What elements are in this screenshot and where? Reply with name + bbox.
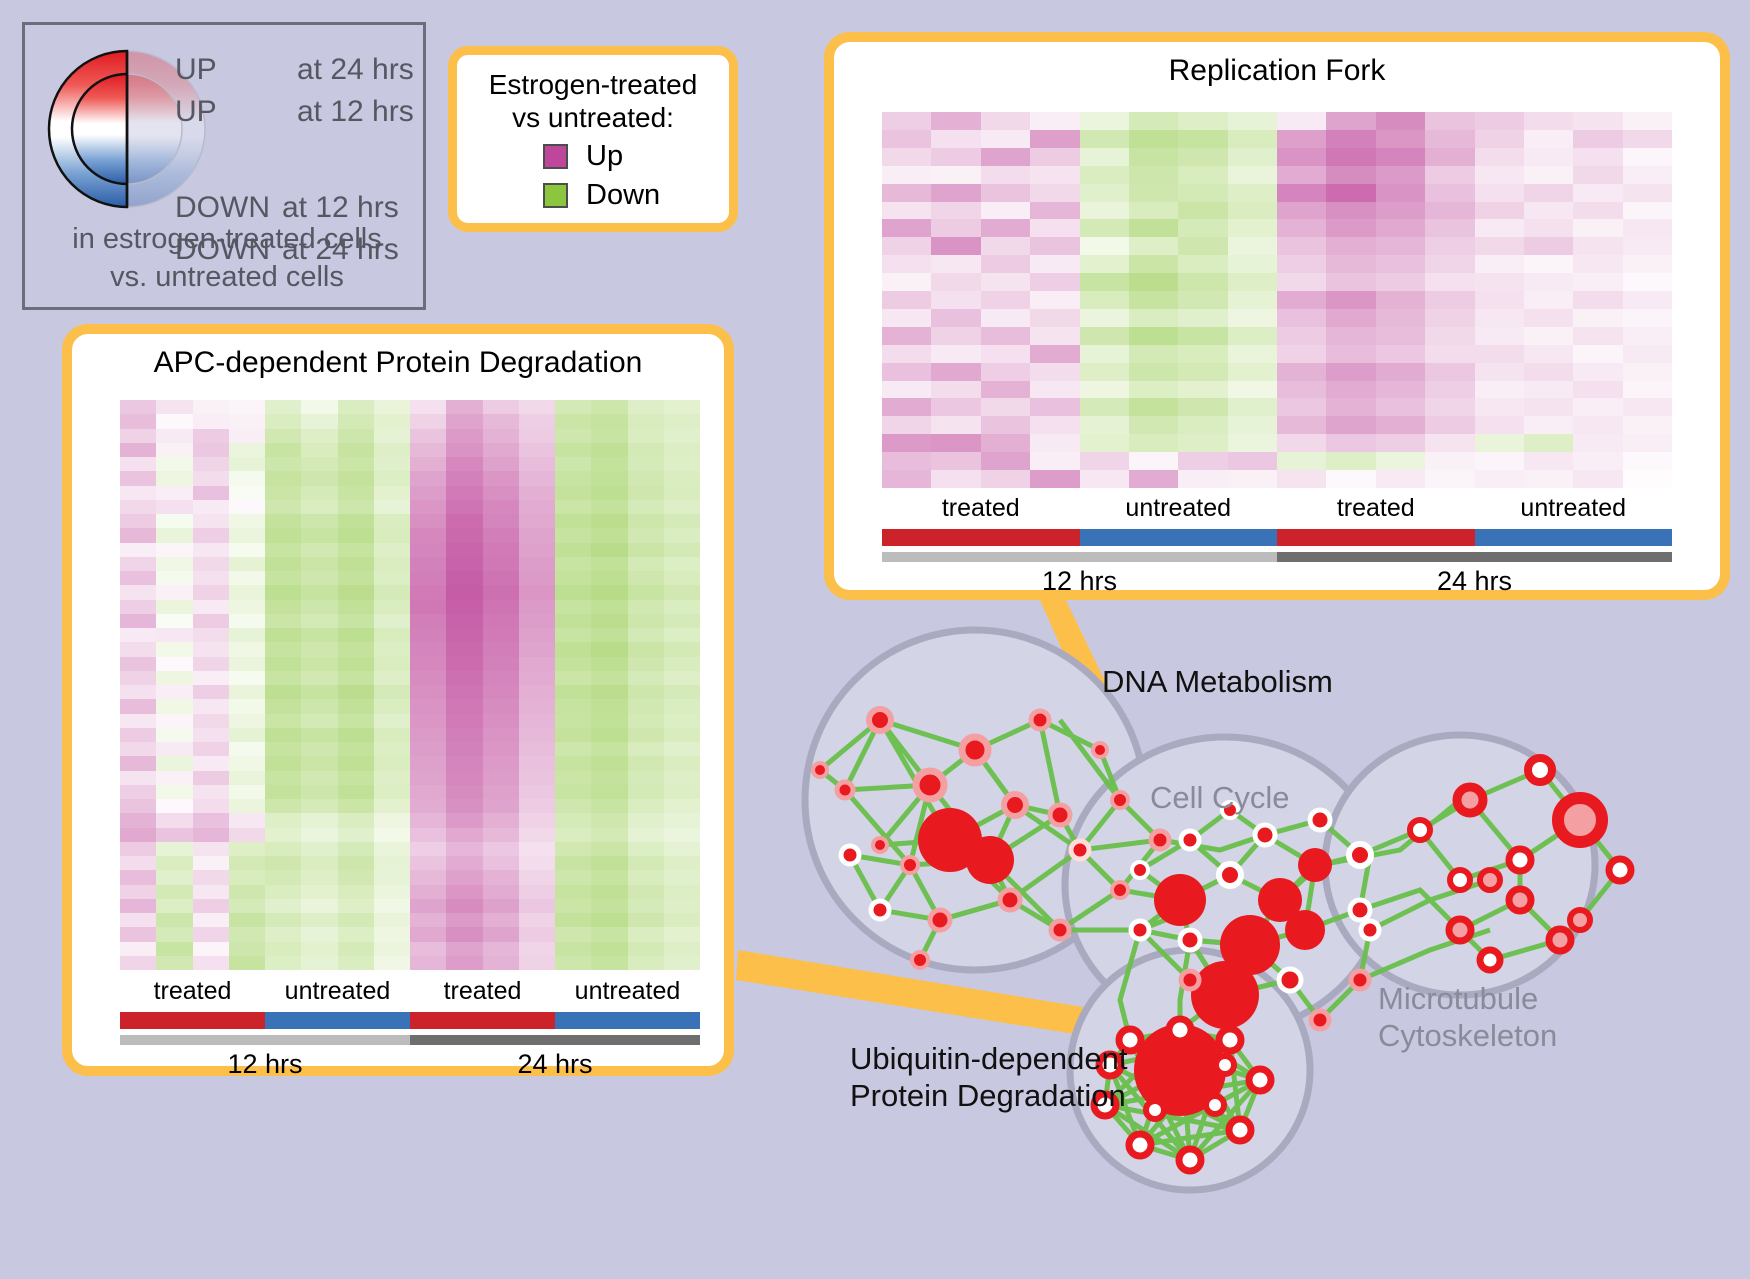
heatmap-cell <box>120 728 156 742</box>
heatmap-cell <box>591 528 627 542</box>
heatmap-cell <box>193 571 229 585</box>
heatmap-cell <box>1623 184 1672 202</box>
heatmap-cell <box>931 416 980 434</box>
heatmap-cell <box>1475 219 1524 237</box>
time-label-12hrs: 12 hrs <box>882 566 1277 597</box>
heatmap-cell <box>156 756 192 770</box>
heatmap-cell <box>931 434 980 452</box>
heatmap-cell <box>410 614 446 628</box>
heatmap-cell <box>664 913 700 927</box>
heatmap-cell <box>981 381 1030 399</box>
heatmap-cell <box>229 885 265 899</box>
heatmap-cell <box>664 728 700 742</box>
heatmap-cell <box>1425 184 1474 202</box>
heatmap-cell <box>120 642 156 656</box>
heatmap-cell <box>483 600 519 614</box>
heatmap-cell <box>483 885 519 899</box>
heatmap-cell <box>301 899 337 913</box>
group-labels-replication-fork: treated untreated treated untreated <box>882 494 1672 523</box>
heatmap-cell <box>981 273 1030 291</box>
heatmap-cell <box>265 600 301 614</box>
heatmap-cell <box>1425 237 1474 255</box>
heatmap-cell <box>664 571 700 585</box>
heatmap-cell <box>338 842 374 856</box>
heatmap-cell <box>555 600 591 614</box>
heatmap-cell <box>519 842 555 856</box>
heatmap-cell <box>265 799 301 813</box>
heatmap-cell <box>591 600 627 614</box>
heatmap-cell <box>1326 273 1375 291</box>
heatmap-cell <box>265 400 301 414</box>
heatmap-cell <box>1623 470 1672 488</box>
group-bar-untreated-24-apc <box>555 1012 700 1029</box>
heatmap-cell <box>1129 398 1178 416</box>
heatmap-cell <box>1129 148 1178 166</box>
heatmap-cell <box>628 457 664 471</box>
heatmap-cell <box>156 600 192 614</box>
heatmap-cell <box>981 363 1030 381</box>
heatmap-cell <box>555 571 591 585</box>
heatmap-cell <box>591 429 627 443</box>
heatmap-cell <box>301 685 337 699</box>
time-bars-apc <box>120 1035 700 1045</box>
heatmap-cell <box>981 184 1030 202</box>
heatmap-cell <box>1178 219 1227 237</box>
heatmap-cell <box>1376 237 1425 255</box>
heatmap-cell <box>1475 434 1524 452</box>
heatmap-cell <box>483 628 519 642</box>
key-footer: in estrogen-treated cells vs. untreated … <box>25 221 429 296</box>
heatmap-cell <box>1277 327 1326 345</box>
heatmap-cell <box>1080 398 1129 416</box>
heatmap-cell <box>374 414 410 428</box>
heatmap-cell <box>374 614 410 628</box>
heatmap-cell <box>446 500 482 514</box>
heatmap-cell <box>1376 470 1425 488</box>
heatmap-cell <box>156 400 192 414</box>
group-label-untreated-12: untreated <box>1080 494 1278 523</box>
heatmap-cell <box>1623 416 1672 434</box>
key-word-down-12: DOWN <box>175 191 270 225</box>
heatmap-cell <box>981 452 1030 470</box>
heatmap-cell <box>519 471 555 485</box>
heatmap-cell <box>1030 309 1079 327</box>
heatmap-cell <box>931 166 980 184</box>
heatmap-cell <box>374 500 410 514</box>
heatmap-cell <box>1326 470 1375 488</box>
heatmap-cell <box>446 885 482 899</box>
heatmap-cell <box>1129 219 1178 237</box>
heatmap-cell <box>120 813 156 827</box>
heatmap-cell <box>591 500 627 514</box>
heatmap-cell <box>591 856 627 870</box>
heatmap-cell <box>338 742 374 756</box>
heatmap-cell <box>1080 273 1129 291</box>
heatmap-cell <box>1178 309 1227 327</box>
heatmap-cell <box>591 870 627 884</box>
heatmap-cell <box>931 398 980 416</box>
heatmap-cell <box>193 799 229 813</box>
heatmap-cell <box>664 628 700 642</box>
heatmap-cell <box>628 614 664 628</box>
heatmap-cell <box>1326 219 1375 237</box>
group-label-treated-24-apc: treated <box>410 977 555 1006</box>
panel-title-apc-degradation: APC-dependent Protein Degradation <box>72 346 724 380</box>
heatmap-cell <box>981 345 1030 363</box>
heatmap-cell <box>410 671 446 685</box>
heatmap-cell <box>1573 166 1622 184</box>
heatmap-cell <box>981 202 1030 220</box>
heatmap-cell <box>1080 309 1129 327</box>
heatmap-cell <box>410 400 446 414</box>
estrogen-legend-title-line2: vs untreated: <box>457 101 729 134</box>
heatmap-cell <box>591 400 627 414</box>
group-bar-treated-12-apc <box>120 1012 265 1029</box>
heatmap-cell <box>519 500 555 514</box>
heatmap-cell <box>664 699 700 713</box>
heatmap-cell <box>519 400 555 414</box>
heatmap-cell <box>120 486 156 500</box>
heatmap-cell <box>229 486 265 500</box>
heatmap-cell <box>519 414 555 428</box>
legend-item-down: Down <box>543 179 729 212</box>
heatmap-cell <box>410 956 446 970</box>
time-label-24hrs: 24 hrs <box>1277 566 1672 597</box>
heatmap-cell <box>882 184 931 202</box>
heatmap-cell <box>265 899 301 913</box>
heatmap-cell <box>628 685 664 699</box>
heatmap-cell <box>519 571 555 585</box>
heatmap-cell <box>1129 273 1178 291</box>
key-word-up-12: UP <box>175 95 217 129</box>
heatmap-cell <box>301 642 337 656</box>
heatmap-cell <box>193 956 229 970</box>
heatmap-cell <box>519 942 555 956</box>
heatmap-cell <box>483 657 519 671</box>
heatmap-cell <box>1524 184 1573 202</box>
heatmap-cell <box>483 856 519 870</box>
heatmap-cell <box>981 470 1030 488</box>
heatmap-cell <box>931 452 980 470</box>
heatmap-cell <box>193 657 229 671</box>
heatmap-cell <box>1228 148 1277 166</box>
heatmap-cell <box>374 714 410 728</box>
heatmap-cell <box>591 828 627 842</box>
heatmap-cell <box>301 543 337 557</box>
heatmap-cell <box>229 685 265 699</box>
heatmap-cell <box>446 400 482 414</box>
heatmap-cell <box>338 813 374 827</box>
heatmap-cell <box>1623 309 1672 327</box>
heatmap-cell <box>193 856 229 870</box>
heatmap-cell <box>591 486 627 500</box>
heatmap-cell <box>374 443 410 457</box>
heatmap-cell <box>193 557 229 571</box>
heatmap-cell <box>519 528 555 542</box>
heatmap-cell <box>374 429 410 443</box>
heatmap-cell <box>1228 327 1277 345</box>
heatmap-cell <box>519 813 555 827</box>
heatmap-cell <box>229 514 265 528</box>
network-label-cell-cycle: Cell Cycle <box>1150 780 1290 816</box>
heatmap-cell <box>265 813 301 827</box>
heatmap-cell <box>519 443 555 457</box>
heatmap-cell <box>591 514 627 528</box>
heatmap-cell <box>1178 470 1227 488</box>
heatmap-cell <box>555 885 591 899</box>
heatmap-cell <box>1129 381 1178 399</box>
heatmap-cell <box>483 642 519 656</box>
heatmap-cell <box>446 514 482 528</box>
heatmap-cell <box>483 528 519 542</box>
heatmap-cell <box>446 571 482 585</box>
heatmap-cell <box>1030 470 1079 488</box>
heatmap-cell <box>1475 416 1524 434</box>
key-row-up-24: UP at 24 hrs <box>175 53 425 95</box>
heatmap-cell <box>1623 452 1672 470</box>
heatmap-cell <box>628 714 664 728</box>
heatmap-cell <box>1524 202 1573 220</box>
heatmap-cell <box>156 685 192 699</box>
heatmap-cell <box>628 756 664 770</box>
key-time-down-12: at 12 hrs <box>282 191 399 225</box>
heatmap-cell <box>555 614 591 628</box>
heatmap-cell <box>265 885 301 899</box>
heatmap-cell <box>193 685 229 699</box>
heatmap-cell <box>156 457 192 471</box>
heatmap-cell <box>265 728 301 742</box>
heatmap-cell <box>1573 237 1622 255</box>
heatmap-cell <box>882 381 931 399</box>
heatmap-cell <box>120 927 156 941</box>
heatmap-cell <box>120 414 156 428</box>
heatmap-cell <box>338 870 374 884</box>
key-time-up-24: at 24 hrs <box>297 53 414 87</box>
heatmap-cell <box>591 614 627 628</box>
heatmap-cell <box>446 942 482 956</box>
heatmap-cell <box>555 870 591 884</box>
heatmap-cell <box>301 956 337 970</box>
heatmap-cell <box>374 642 410 656</box>
heatmap-cell <box>338 514 374 528</box>
heatmap-cell <box>664 828 700 842</box>
heatmap-cell <box>229 756 265 770</box>
heatmap-cell <box>882 452 931 470</box>
heatmap-cell <box>229 443 265 457</box>
heatmap-cell <box>483 771 519 785</box>
heatmap-cell <box>981 148 1030 166</box>
heatmap-cell <box>628 471 664 485</box>
heatmap-cell <box>664 400 700 414</box>
heatmap-cell <box>120 870 156 884</box>
heatmap-cell <box>519 885 555 899</box>
heatmap-cell <box>1475 184 1524 202</box>
heatmap-cell <box>410 799 446 813</box>
heatmap-cell <box>1228 112 1277 130</box>
network-label-microtubule-line1: Microtubule <box>1378 980 1557 1017</box>
heatmap-cell <box>981 291 1030 309</box>
heatmap-cell <box>1178 255 1227 273</box>
heatmap-cell <box>882 112 931 130</box>
group-label-treated-24: treated <box>1277 494 1475 523</box>
heatmap-cell <box>483 870 519 884</box>
heatmap-cell <box>120 913 156 927</box>
heatmap-cell <box>519 671 555 685</box>
heatmap-cell <box>664 457 700 471</box>
heatmap-cell <box>1326 327 1375 345</box>
heatmap-cell <box>519 486 555 500</box>
heatmap-cell <box>193 600 229 614</box>
heatmap-cell <box>1228 255 1277 273</box>
heatmap-cell <box>1425 291 1474 309</box>
heatmap-cell <box>1129 130 1178 148</box>
network-label-ubiquitin: Ubiquitin-dependent Protein Degradation <box>850 1040 1128 1114</box>
heatmap-cell <box>591 942 627 956</box>
heatmap-cell <box>1326 416 1375 434</box>
heatmap-cell <box>483 927 519 941</box>
heatmap-cell <box>483 557 519 571</box>
heatmap-cell <box>156 885 192 899</box>
heatmap-cell <box>555 486 591 500</box>
heatmap-cell <box>229 813 265 827</box>
heatmap-cell <box>981 416 1030 434</box>
heatmap-cell <box>446 927 482 941</box>
heatmap-cell <box>1524 345 1573 363</box>
estrogen-legend-box: Estrogen-treated vs untreated: Up Down <box>448 46 738 232</box>
heatmap-cell <box>882 130 931 148</box>
heatmap-cell <box>664 671 700 685</box>
heatmap-cell <box>1326 166 1375 184</box>
heatmap-cell <box>410 828 446 842</box>
heatmap-cell <box>1129 184 1178 202</box>
heatmap-cell <box>301 870 337 884</box>
heatmap-cell <box>664 742 700 756</box>
heatmap-cell <box>156 842 192 856</box>
group-label-untreated-24-apc: untreated <box>555 977 700 1006</box>
heatmap-cell <box>882 345 931 363</box>
heatmap-cell <box>265 486 301 500</box>
heatmap-cell <box>229 543 265 557</box>
heatmap-cell <box>120 828 156 842</box>
heatmap-cell <box>1277 381 1326 399</box>
heatmap-cell <box>882 219 931 237</box>
heatmap-cell <box>1129 416 1178 434</box>
heatmap-cell <box>338 657 374 671</box>
heatmap-cell <box>446 699 482 713</box>
heatmap-cell <box>156 543 192 557</box>
heatmap-cell <box>628 956 664 970</box>
heatmap-cell <box>882 148 931 166</box>
heatmap-cell <box>1425 434 1474 452</box>
heatmap-cell <box>338 543 374 557</box>
heatmap-cell <box>1425 219 1474 237</box>
heatmap-cell <box>301 514 337 528</box>
heatmap-cell <box>931 381 980 399</box>
heatmap-cell <box>338 500 374 514</box>
heatmap-cell <box>519 785 555 799</box>
heatmap-cell <box>483 486 519 500</box>
legend-label-down: Down <box>586 179 660 212</box>
heatmap-cell <box>301 885 337 899</box>
heatmap-cell <box>1623 255 1672 273</box>
heatmap-cell <box>265 514 301 528</box>
heatmap-cell <box>1326 309 1375 327</box>
heatmap-cell <box>229 400 265 414</box>
heatmap-cell <box>1376 112 1425 130</box>
heatmap-cell <box>1475 398 1524 416</box>
heatmap-cell <box>555 899 591 913</box>
heatmap-cell <box>156 528 192 542</box>
heatmap-cell <box>338 899 374 913</box>
heatmap-cell <box>1573 202 1622 220</box>
heatmap-cell <box>1030 166 1079 184</box>
heatmap-cell <box>156 571 192 585</box>
heatmap-cell <box>338 443 374 457</box>
heatmap-cell <box>664 471 700 485</box>
heatmap-cell <box>193 813 229 827</box>
heatmap-cell <box>591 842 627 856</box>
heatmap-cell <box>483 571 519 585</box>
key-footer-line2: vs. untreated cells <box>25 259 429 297</box>
heatmap-cell <box>591 913 627 927</box>
heatmap-cell <box>483 714 519 728</box>
heatmap-cell <box>1030 112 1079 130</box>
heatmap-cell <box>120 742 156 756</box>
heatmap-cell <box>1080 470 1129 488</box>
heatmap-cell <box>664 756 700 770</box>
heatmap-cell <box>410 813 446 827</box>
heatmap-cell <box>374 956 410 970</box>
heatmap-cell <box>483 899 519 913</box>
heatmap-cell <box>338 785 374 799</box>
heatmap-cell <box>1376 309 1425 327</box>
heatmap-cell <box>1425 327 1474 345</box>
heatmap-cell <box>410 785 446 799</box>
heatmap-cell <box>193 614 229 628</box>
heatmap-cell <box>555 585 591 599</box>
heatmap-cell <box>120 699 156 713</box>
heatmap-cell <box>120 714 156 728</box>
heatmap-cell <box>338 414 374 428</box>
heatmap-cell <box>338 571 374 585</box>
heatmap-cell <box>120 571 156 585</box>
heatmap-cell <box>193 585 229 599</box>
estrogen-legend-title-line1: Estrogen-treated <box>457 68 729 101</box>
heatmap-cell <box>1178 363 1227 381</box>
heatmap-cell <box>1277 470 1326 488</box>
heatmap-cell <box>483 828 519 842</box>
heatmap-cell <box>374 742 410 756</box>
heatmap-cell <box>931 273 980 291</box>
heatmap-cell <box>591 899 627 913</box>
heatmap-cell <box>410 885 446 899</box>
heatmap-cell <box>628 657 664 671</box>
heatmap-cell <box>664 657 700 671</box>
heatmap-cell <box>1030 345 1079 363</box>
heatmap-cell <box>981 112 1030 130</box>
heatmap-cell <box>628 856 664 870</box>
heatmap-cell <box>120 657 156 671</box>
heatmap-cell <box>1573 470 1622 488</box>
heatmap-cell <box>374 543 410 557</box>
heatmap-cell <box>1524 309 1573 327</box>
heatmap-cell <box>1277 148 1326 166</box>
network-label-ubiquitin-line2: Protein Degradation <box>850 1077 1128 1114</box>
heatmap-cell <box>410 514 446 528</box>
heatmap-cell <box>519 927 555 941</box>
heatmap-cell <box>664 771 700 785</box>
heatmap-cell <box>1277 219 1326 237</box>
